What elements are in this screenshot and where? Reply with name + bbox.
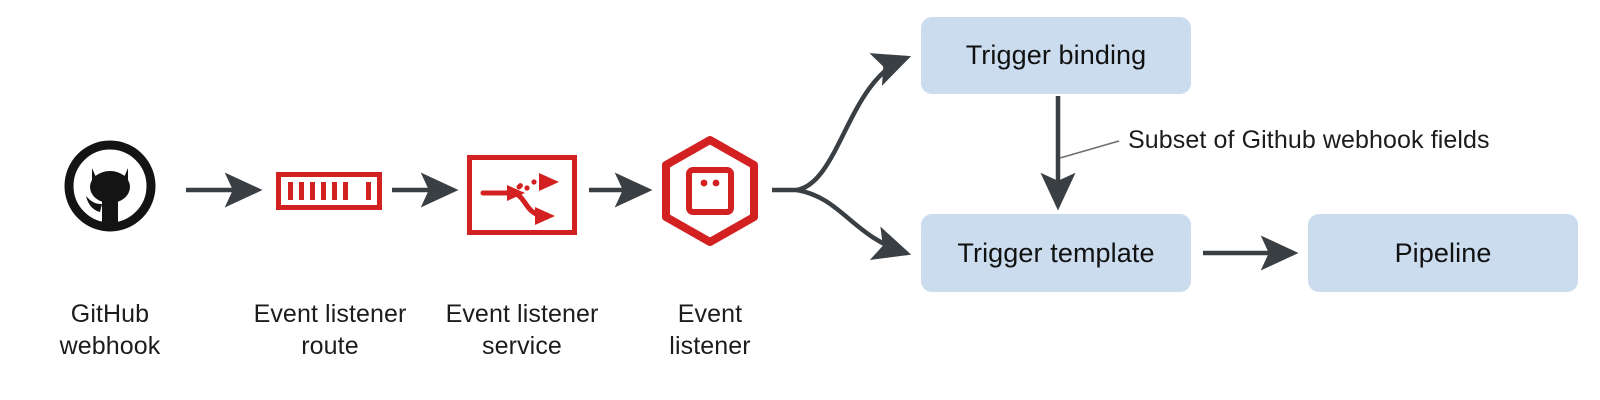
arrow-listener-to-trigger-template	[797, 190, 906, 253]
arrow-listener-to-trigger-binding	[797, 58, 906, 190]
caption-event-listener-service: Event listener service	[424, 298, 620, 362]
caption-github-webhook: GitHub webhook	[30, 298, 190, 362]
node-pipeline[interactable]: Pipeline	[1308, 214, 1578, 292]
route-icon	[276, 172, 382, 210]
node-trigger-template[interactable]: Trigger template	[921, 214, 1191, 292]
service-icon	[467, 155, 577, 235]
node-trigger-binding[interactable]: Trigger binding	[921, 17, 1191, 94]
annotation-leader-line	[1060, 141, 1119, 158]
diagram-canvas: GitHub webhook Event listener route	[0, 0, 1600, 400]
caption-event-listener: Event listener	[640, 298, 780, 362]
node-trigger-binding-label: Trigger binding	[966, 40, 1147, 71]
node-trigger-template-label: Trigger template	[957, 238, 1154, 269]
annotation-subset-of-github-webhook-fields: Subset of Github webhook fields	[1128, 126, 1490, 155]
github-octocat-icon	[62, 138, 158, 234]
hexagon-listener-icon	[658, 135, 762, 247]
node-pipeline-label: Pipeline	[1395, 238, 1492, 269]
caption-event-listener-route: Event listener route	[232, 298, 428, 362]
